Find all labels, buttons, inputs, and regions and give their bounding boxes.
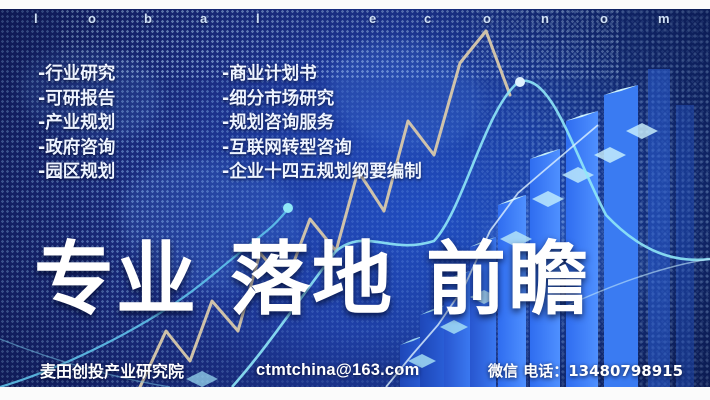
footer-bar: 麦田创投产业研究院 ctmtchina@163.com 微信 电话：134807… (0, 353, 710, 387)
poster-banner: l o b a l e c o n o m -行业研究 -可研报告 -产业规划 … (0, 0, 710, 400)
top-letters-row: l o b a l e c o n o m (0, 9, 710, 35)
top-letter: l (34, 11, 38, 26)
top-letter: e (369, 11, 376, 26)
top-letter: l (256, 11, 260, 26)
top-letter: o (88, 11, 96, 26)
service-item: -行业研究 (38, 62, 115, 87)
top-letter: n (541, 11, 549, 26)
services-list-right: -商业计划书 -细分市场研究 -规划咨询服务 -互联网转型咨询 -企业十四五规划… (222, 62, 422, 185)
headline-word-3: 前瞻 (426, 238, 590, 322)
contact-phone-wechat[interactable]: 微信 电话：13480798915 (488, 360, 683, 381)
top-letter: m (658, 11, 670, 26)
service-item: -产业规划 (38, 111, 115, 136)
headline: 专业 落地 前瞻 (34, 238, 590, 322)
headline-word-1: 专业 (34, 238, 198, 322)
letterbox-top (0, 0, 710, 9)
headline-word-2: 落地 (230, 238, 394, 322)
cyan-curve-peak-dot (515, 77, 525, 87)
service-item: -园区规划 (38, 160, 115, 185)
service-item: -企业十四五规划纲要编制 (222, 160, 422, 185)
service-item: -商业计划书 (222, 62, 422, 87)
top-letter: o (483, 11, 491, 26)
cyan-sweep-endpoint-dot (283, 203, 293, 213)
letterbox-bottom (0, 387, 710, 400)
company-name: 麦田创投产业研究院 (40, 358, 184, 382)
top-letter: b (144, 11, 152, 26)
top-letter: a (200, 11, 207, 26)
service-item: -政府咨询 (38, 136, 115, 161)
service-item: -细分市场研究 (222, 87, 422, 112)
service-item: -规划咨询服务 (222, 111, 422, 136)
contact-email[interactable]: ctmtchina@163.com (256, 361, 419, 380)
service-item: -可研报告 (38, 87, 115, 112)
services-list-left: -行业研究 -可研报告 -产业规划 -政府咨询 -园区规划 (38, 62, 115, 185)
top-letter: o (600, 11, 608, 26)
top-letter: c (424, 11, 431, 26)
service-item: -互联网转型咨询 (222, 136, 422, 161)
